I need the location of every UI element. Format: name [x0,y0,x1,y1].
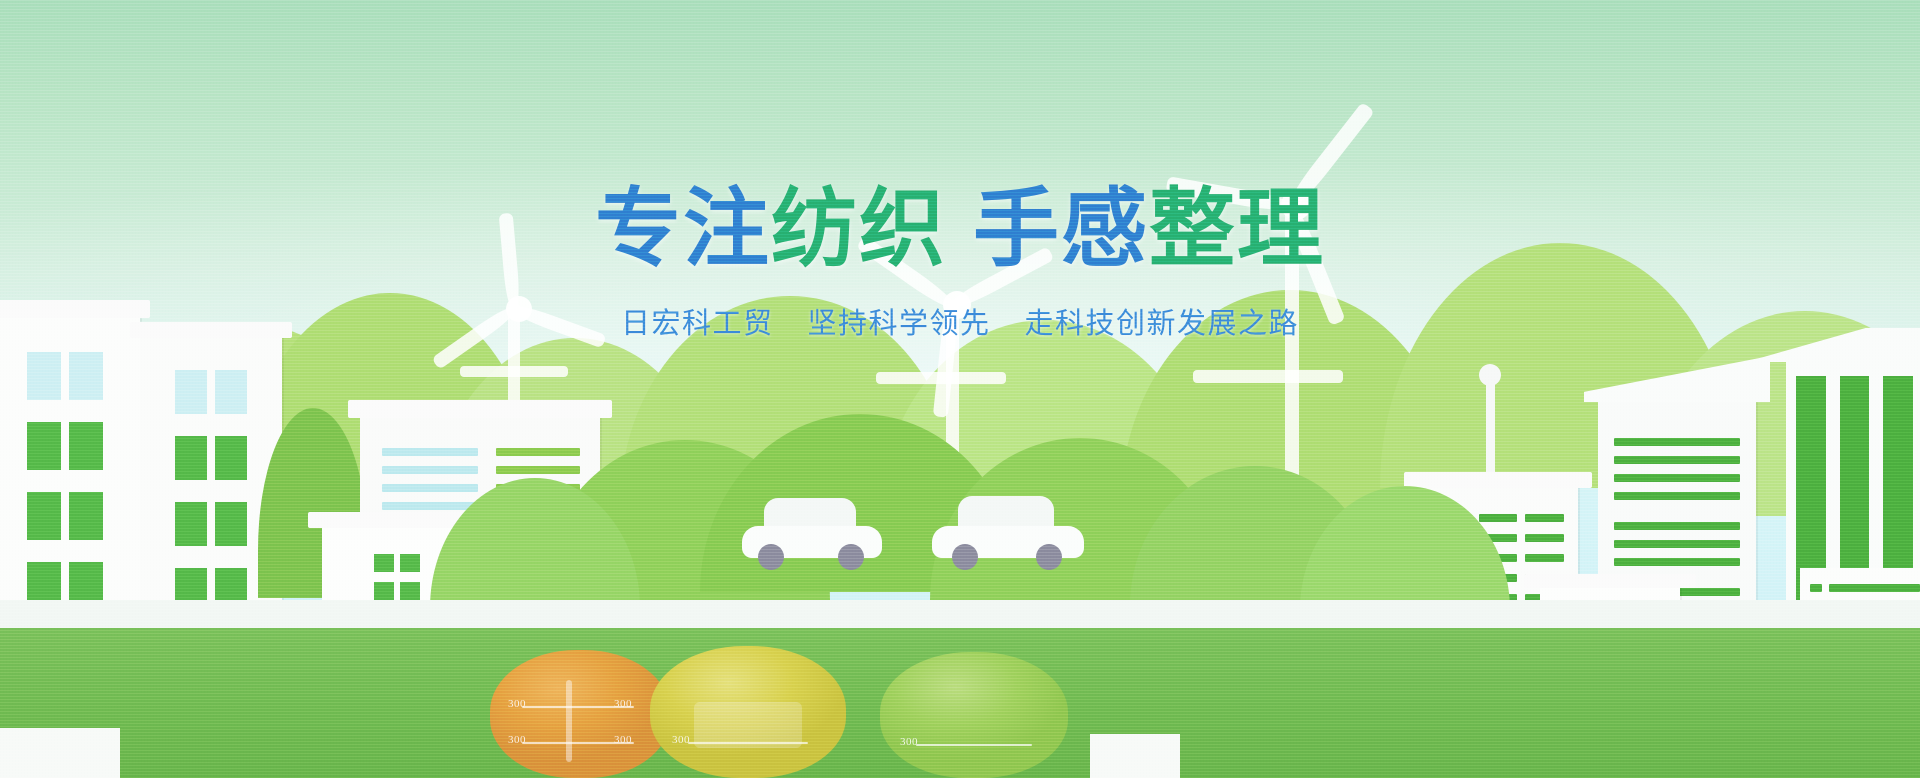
beaker-yellow: 300 [650,646,846,778]
hero-banner: 300 300 300 300 300 300 专注纺织手感整理 日宏科工贸坚持… [0,0,1920,778]
beaker-orange-marking: 300 [508,698,526,710]
foreground-block-left [0,728,120,778]
beaker-green: 300 [880,652,1068,778]
electric-car-left [742,498,882,570]
beaker-green-marking: 300 [900,736,918,748]
beaker-yellow-marking: 300 [672,734,690,746]
electric-car-right [932,496,1084,570]
beaker-orange-marking-2: 300 [508,734,526,746]
road-band [0,600,1920,630]
foreground-block-right [1090,734,1180,778]
beaker-orange: 300 300 300 300 [490,650,670,778]
